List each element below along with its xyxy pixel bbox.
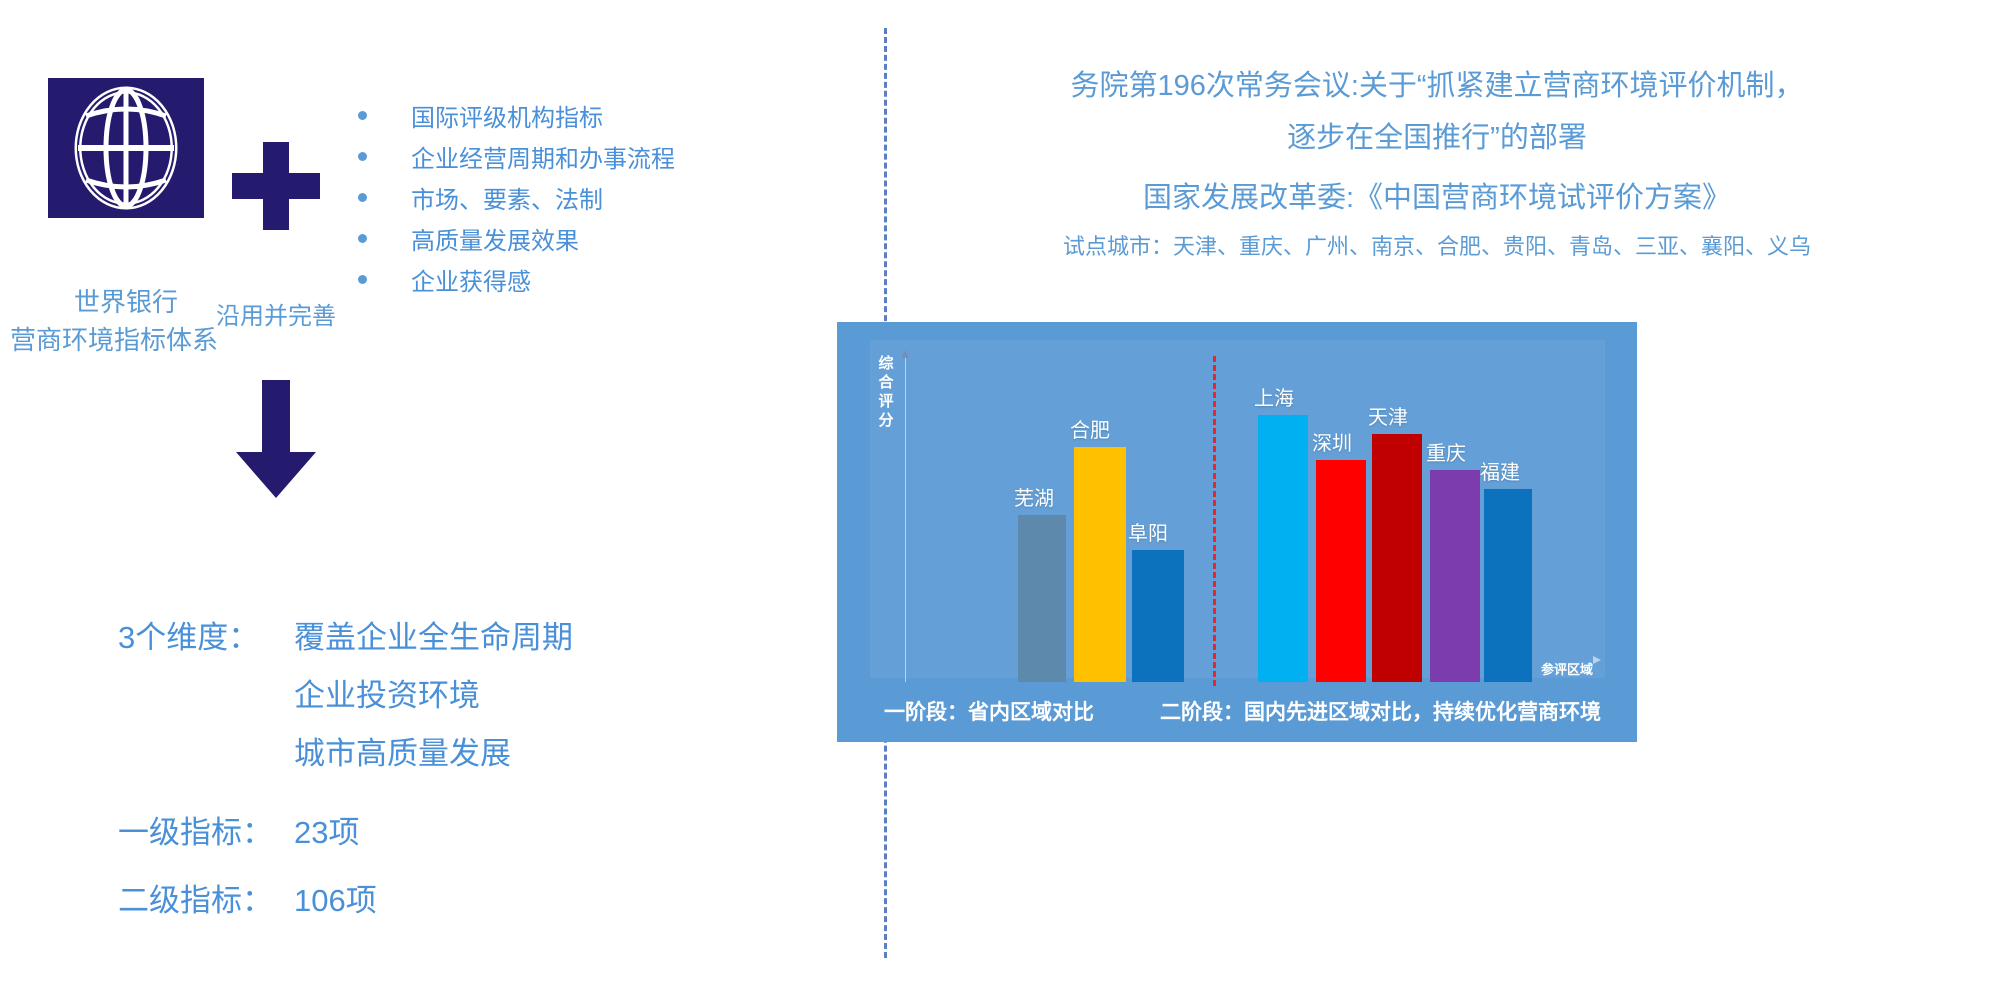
bullet-text: 企业经营周期和办事流程 — [411, 139, 675, 174]
bar-chart-panel: 综合评分 芜湖合肥阜阳上海深圳天津重庆福建 参评区域 一阶段：省内区域对比 二阶… — [837, 322, 1637, 742]
chart-bar — [1018, 515, 1066, 682]
chart-bar — [1132, 550, 1184, 682]
chart-bar-label: 深圳 — [1312, 427, 1352, 456]
dimension-row: 企业投资环境 — [118, 663, 758, 721]
chart-bar — [1484, 489, 1532, 682]
plus-caption: 沿用并完善 — [212, 296, 340, 331]
world-bank-globe-icon — [48, 78, 204, 218]
dimensions-label: 3个维度： — [118, 612, 294, 657]
dimension-value: 企业投资环境 — [294, 670, 480, 715]
bullet-text: 高质量发展效果 — [411, 221, 579, 256]
indicator-label: 一级指标： — [118, 807, 294, 852]
chart-bar — [1316, 460, 1366, 682]
list-item: 高质量发展效果 — [358, 218, 778, 259]
dimensions-block: 3个维度： 覆盖企业全生命周期 企业投资环境 城市高质量发展 — [118, 605, 758, 779]
plus-icon — [232, 142, 320, 230]
list-item: 市场、要素、法制 — [358, 177, 778, 218]
bullet-dot-icon — [358, 275, 367, 284]
list-item: 企业经营周期和办事流程 — [358, 136, 778, 177]
bullet-list: 国际评级机构指标 企业经营周期和办事流程 市场、要素、法制 高质量发展效果 企业… — [358, 95, 778, 300]
dimension-row: 3个维度： 覆盖企业全生命周期 — [118, 605, 758, 663]
chart-bar-label: 阜阳 — [1128, 517, 1168, 546]
bullet-dot-icon — [358, 234, 367, 243]
indicator-value: 23项 — [294, 807, 359, 852]
dimension-row: 城市高质量发展 — [118, 721, 758, 779]
chart-bar — [1258, 415, 1308, 682]
chart-bar — [1430, 470, 1480, 682]
world-bank-caption-line1: 世界银行 — [10, 283, 242, 321]
chart-x-axis-arrow-icon — [1593, 656, 1601, 664]
chart-bar-label: 芜湖 — [1014, 482, 1054, 511]
header-line-1: 务院第196次常务会议:关于“抓紧建立营商环境评价机制， — [884, 60, 1990, 112]
bullet-dot-icon — [358, 193, 367, 202]
chart-plot-area: 综合评分 芜湖合肥阜阳上海深圳天津重庆福建 参评区域 — [870, 340, 1605, 678]
chart-bar — [1372, 434, 1422, 682]
header-line-4: 试点城市：天津、重庆、广州、南京、合肥、贵阳、青岛、三亚、襄阳、义乌 — [884, 226, 1990, 268]
dimension-value: 覆盖企业全生命周期 — [294, 612, 573, 657]
bullet-text: 国际评级机构指标 — [411, 98, 603, 133]
header-line-3: 国家发展改革委:《中国营商环境试评价方案》 — [884, 170, 1990, 226]
chart-bar-label: 天津 — [1368, 401, 1408, 430]
bullet-dot-icon — [358, 152, 367, 161]
chart-stage1-label: 一阶段：省内区域对比 — [884, 696, 1094, 726]
chart-bar-label: 重庆 — [1426, 437, 1466, 466]
indicator-label: 二级指标： — [118, 875, 294, 920]
list-item: 国际评级机构指标 — [358, 95, 778, 136]
dimension-value: 城市高质量发展 — [294, 728, 511, 773]
indicator-row: 二级指标： 106项 — [118, 863, 758, 931]
chart-stage-separator — [1213, 356, 1216, 686]
chart-footer: 一阶段：省内区域对比 二阶段：国内先进区域对比，持续优化营商环境 — [837, 680, 1637, 742]
header-line-2: 逐步在全国推行”的部署 — [884, 112, 1990, 164]
right-header: 务院第196次常务会议:关于“抓紧建立营商环境评价机制， 逐步在全国推行”的部署… — [884, 60, 1990, 268]
chart-bar — [1074, 447, 1126, 682]
bullet-text: 市场、要素、法制 — [411, 180, 603, 215]
chart-bar-label: 合肥 — [1070, 414, 1110, 443]
indicators-block: 一级指标： 23项 二级指标： 106项 — [118, 795, 758, 931]
slide-root: 世界银行 营商环境指标体系 沿用并完善 国际评级机构指标 企业经营周期和办事流程… — [0, 0, 1990, 988]
chart-bar-label: 上海 — [1254, 382, 1294, 411]
list-item: 企业获得感 — [358, 259, 778, 300]
chart-x-axis-label: 参评区域 — [1541, 659, 1593, 678]
world-bank-caption: 世界银行 营商环境指标体系 — [10, 283, 242, 359]
indicator-row: 一级指标： 23项 — [118, 795, 758, 863]
chart-y-axis-label: 综合评分 — [875, 354, 897, 430]
world-bank-caption-line2: 营商环境指标体系 — [0, 321, 242, 359]
right-panel: 务院第196次常务会议:关于“抓紧建立营商环境评价机制， 逐步在全国推行”的部署… — [884, 0, 1990, 988]
chart-bars: 芜湖合肥阜阳上海深圳天津重庆福建 参评区域 — [906, 356, 1605, 682]
down-arrow-icon — [228, 380, 324, 500]
indicator-value: 106项 — [294, 875, 377, 920]
chart-bar-label: 福建 — [1480, 456, 1520, 485]
bullet-text: 企业获得感 — [411, 262, 531, 297]
chart-stage2-label: 二阶段：国内先进区域对比，持续优化营商环境 — [1160, 696, 1601, 726]
bullet-dot-icon — [358, 111, 367, 120]
left-panel: 世界银行 营商环境指标体系 沿用并完善 国际评级机构指标 企业经营周期和办事流程… — [0, 0, 884, 988]
